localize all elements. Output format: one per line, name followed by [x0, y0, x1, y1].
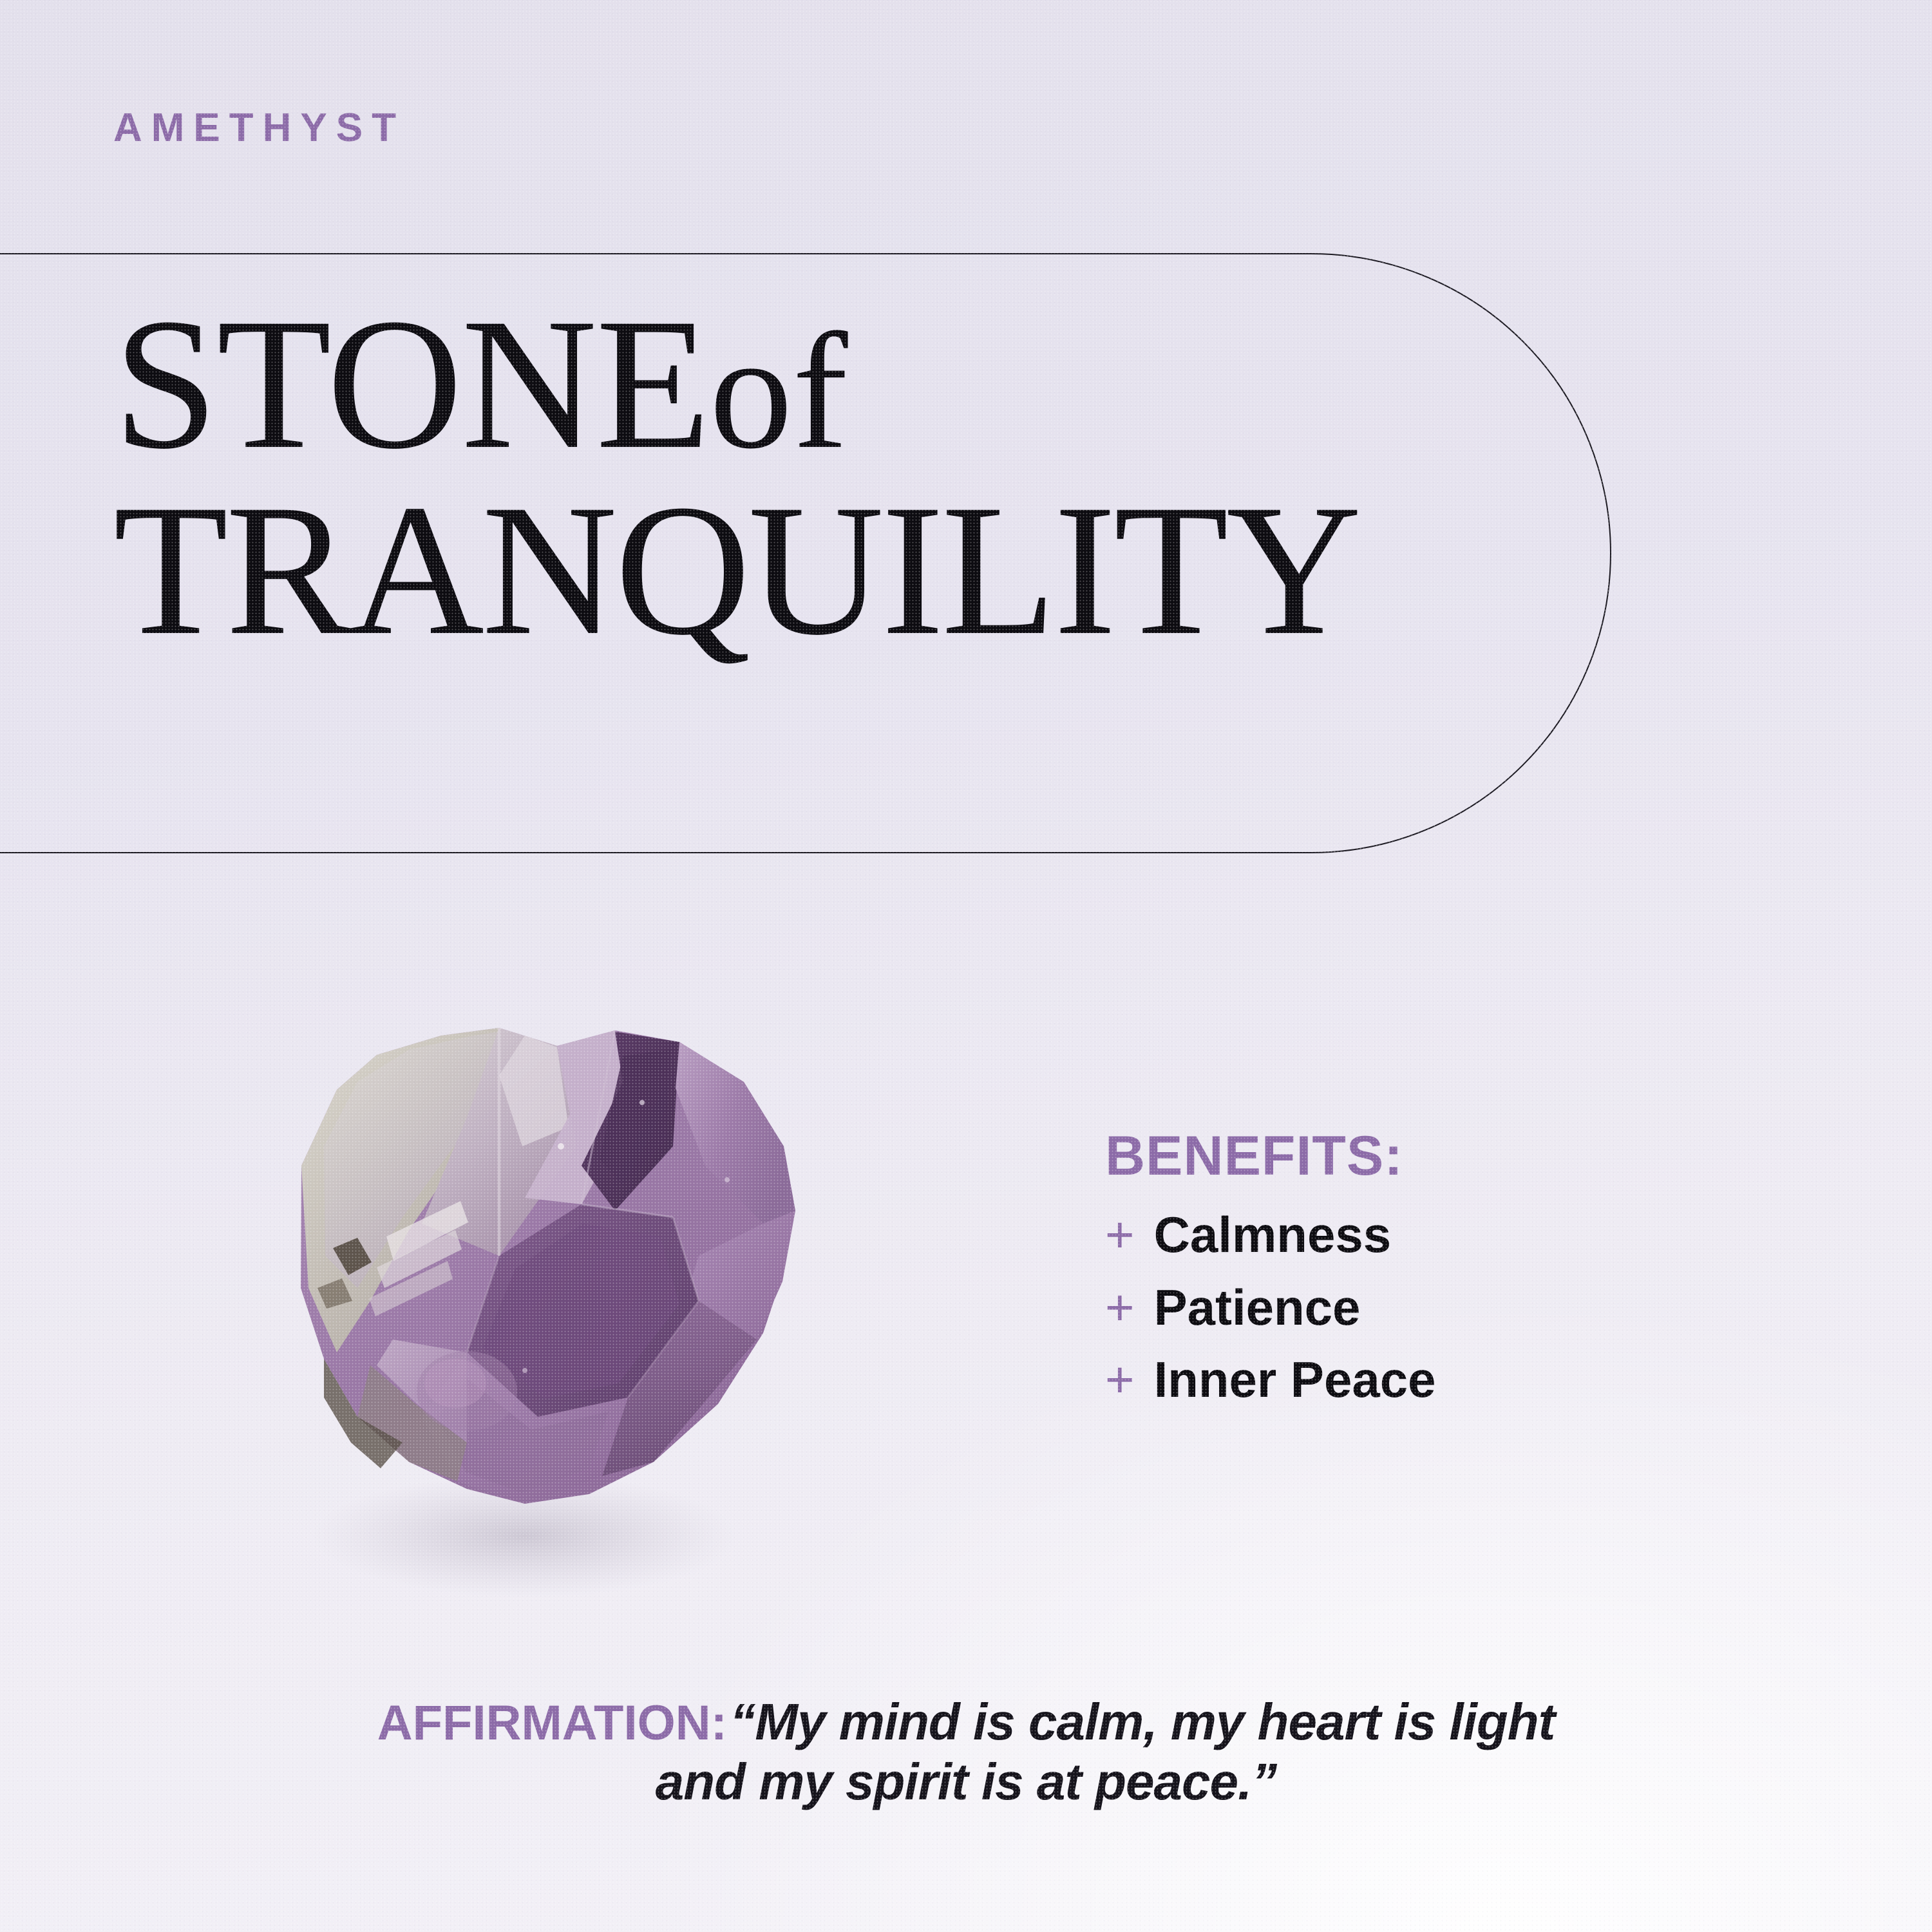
page-title: STONEof TRANQUILITY — [113, 291, 1620, 663]
benefit-item-calmness: + Calmness — [1105, 1208, 1788, 1262]
benefit-label: Inner Peace — [1154, 1353, 1436, 1406]
amethyst-crystal-image — [164, 953, 905, 1655]
benefit-item-inner-peace: + Inner Peace — [1105, 1353, 1788, 1406]
title-word-tranquility: TRANQUILITY — [113, 477, 1620, 663]
plus-icon: + — [1105, 1282, 1135, 1332]
benefits-heading: BENEFITS: — [1105, 1128, 1788, 1184]
benefit-item-patience: + Patience — [1105, 1281, 1788, 1334]
affirmation-label: AFFIRMATION: — [377, 1696, 727, 1750]
benefit-label: Patience — [1154, 1281, 1361, 1334]
affirmation-first-line: AFFIRMATION: “My mind is calm, my heart … — [0, 1692, 1932, 1752]
poster-canvas: AMETHYST STONEof TRANQUILITY — [0, 0, 1932, 1932]
affirmation-section: AFFIRMATION: “My mind is calm, my heart … — [0, 1692, 1932, 1812]
plus-icon: + — [1105, 1209, 1135, 1260]
benefits-section: BENEFITS: + Calmness + Patience + Inner … — [1105, 1128, 1788, 1426]
plus-icon: + — [1105, 1354, 1135, 1405]
page-eyebrow-label: AMETHYST — [113, 108, 405, 148]
affirmation-quote-line-2: and my spirit is at peace.” — [0, 1752, 1932, 1812]
title-word-stone: STONE — [113, 280, 710, 488]
title-word-of: of — [710, 299, 848, 483]
affirmation-quote-line-1: “My mind is calm, my heart is light — [730, 1693, 1555, 1750]
benefit-label: Calmness — [1154, 1208, 1392, 1262]
